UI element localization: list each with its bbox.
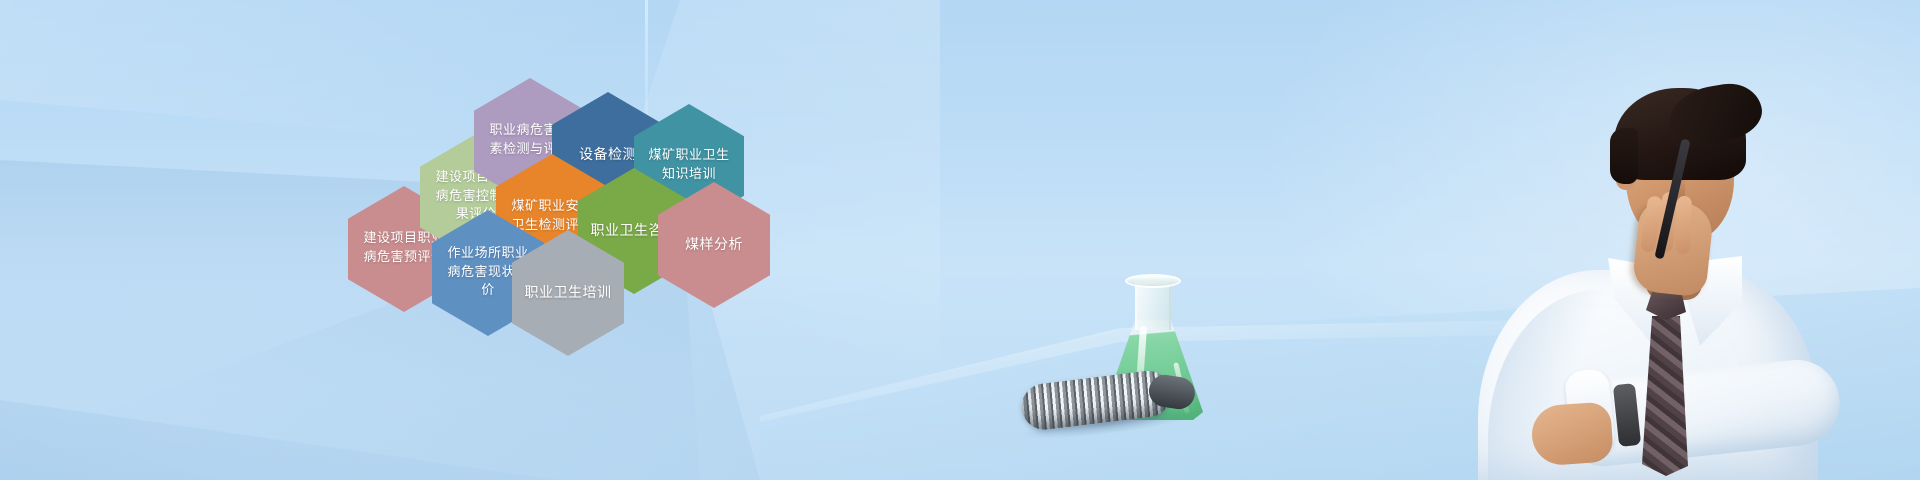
photo-technician	[1440, 50, 1860, 480]
resting-hand	[1530, 401, 1614, 466]
finger	[1675, 196, 1692, 254]
flask-lip	[1125, 274, 1181, 288]
hex-label: 职业卫生培训	[521, 283, 615, 303]
coiled-tube-icon	[1018, 360, 1195, 450]
hair-side	[1610, 128, 1638, 184]
hex-label: 煤样分析	[667, 235, 761, 255]
flask-neck	[1135, 282, 1171, 330]
hexagon-cluster: 建设项目职业病危害预评价建设项目职业病危害控制效果评价职业病危害因素检测与评价设…	[0, 0, 960, 480]
banner-stage: 建设项目职业病危害预评价建设项目职业病危害控制效果评价职业病危害因素检测与评价设…	[0, 0, 1920, 480]
hex-label: 煤矿职业卫生知识培训	[643, 147, 735, 185]
